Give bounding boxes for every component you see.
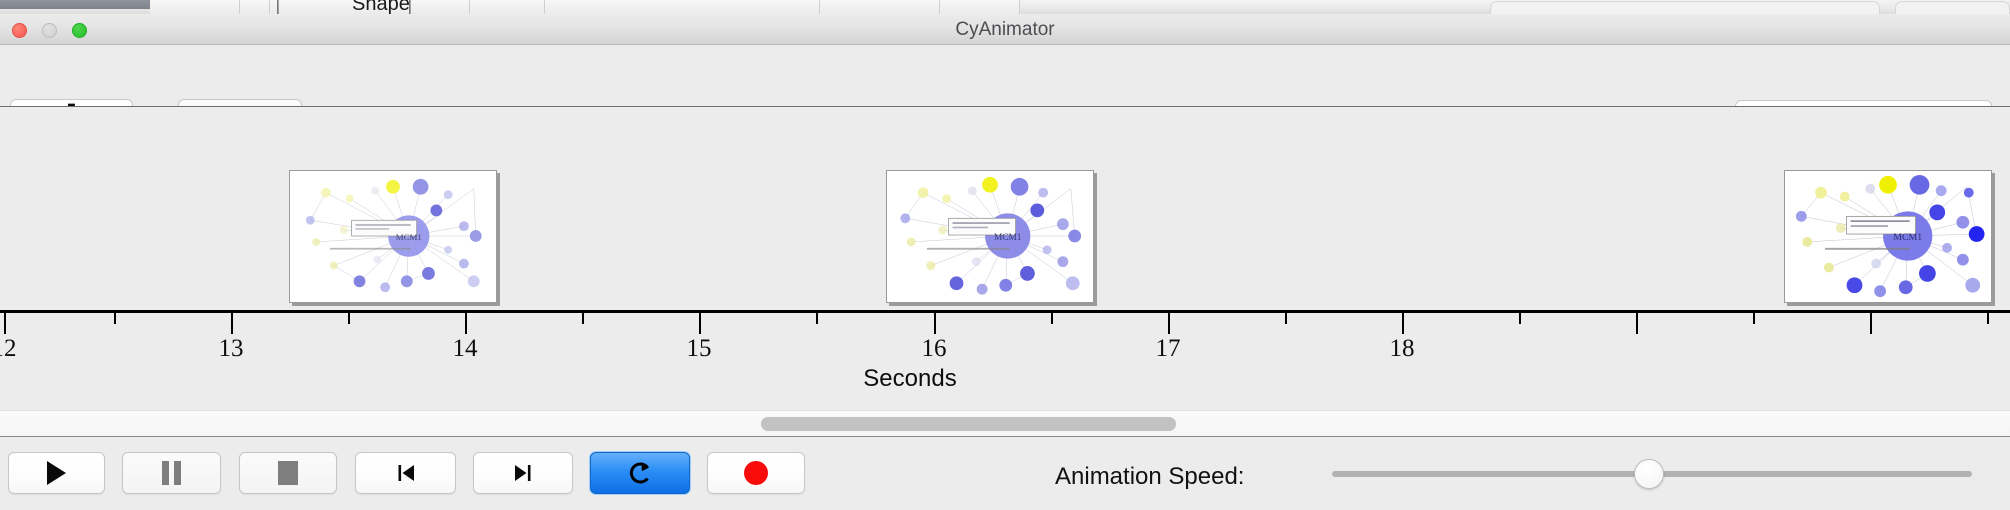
background-dark-tab [0,0,150,9]
loop-button[interactable] [590,452,690,494]
axis-tick-label: 15 [687,335,712,363]
scrollbar-thumb[interactable] [761,417,1176,431]
skip-to-start-icon [393,460,419,486]
background-window-corner [1895,1,2010,14]
network-graph-frame-3: MCM1 [1785,171,1991,302]
svg-text:MCM1: MCM1 [994,233,1022,243]
svg-text:MCM1: MCM1 [1893,232,1922,243]
animation-speed-slider[interactable] [1332,471,1972,477]
network-graph-frame-1: MCM1 [290,171,496,302]
skip-to-start-button[interactable] [355,452,456,494]
axis-tick-label: 18 [1390,335,1415,363]
axis-tick-major [4,313,6,334]
skip-to-end-button[interactable] [473,452,573,494]
axis-tick-minor [1285,313,1287,324]
pause-button[interactable] [122,452,221,494]
axis-tick-major [934,313,936,334]
record-button[interactable] [707,452,805,494]
svg-text:MCM1: MCM1 [396,232,422,242]
toolbar: ✚ Clear All Frames [0,45,2010,107]
slider-thumb[interactable] [1634,459,1664,489]
axis-tick-major [1402,313,1404,334]
titlebar: CyAnimator [0,14,2010,45]
record-icon [744,461,768,485]
background-window-corner [1490,1,1880,14]
play-icon [47,461,66,485]
background-segment [240,0,270,14]
pause-icon [162,461,181,485]
window-title: CyAnimator [0,14,2010,45]
background-segment [150,0,240,14]
axis-tick-minor [1987,313,1989,324]
background-window-strip: | | Shape [0,0,2010,14]
axis-tick-minor [582,313,584,324]
axis-tick-major [231,313,233,334]
frame-thumbnail[interactable]: MCM1 [1784,170,1992,303]
axis-tick-minor [1051,313,1053,324]
axis-tick-minor [1753,313,1755,324]
axis-tick-major [1870,313,1872,334]
horizontal-scrollbar[interactable] [0,410,2010,437]
axis-tick-minor [816,313,818,324]
axis-tick-major [1636,313,1638,334]
skip-to-end-icon [510,460,536,486]
axis-tick-minor [114,313,116,324]
axis-tick-minor [348,313,350,324]
cyanimator-window: | | Shape CyAnimator ✚ Clear All Frames [0,0,2010,510]
frame-thumbnail[interactable]: MCM1 [886,170,1094,303]
axis-tick-label: 16 [922,335,947,363]
animation-speed-label: Animation Speed: [1055,463,1244,491]
background-segment [940,0,1020,14]
background-segment [545,0,820,14]
background-shape-label: Shape [352,0,410,14]
axis-tick-major [699,313,701,334]
axis-tick-label: 12 [0,335,17,363]
axis-title: Seconds [863,365,956,393]
axis-tick-label: 17 [1156,335,1181,363]
background-segment [820,0,940,14]
background-glyph: | [276,0,280,14]
axis-tick-major [1168,313,1170,334]
axis-tick-minor [1519,313,1521,324]
stop-button[interactable] [239,452,337,494]
timeline-panel[interactable]: MCM1 [0,107,2010,410]
stop-icon [278,461,298,485]
frame-thumbnail[interactable]: MCM1 [289,170,497,303]
network-graph-frame-2: MCM1 [887,171,1093,302]
axis-tick-label: 14 [453,335,478,363]
loop-icon [625,458,655,488]
play-button[interactable] [8,452,105,494]
axis-tick-label: 13 [219,335,244,363]
playback-toolbar: Animation Speed: [0,438,2010,510]
axis-tick-major [465,313,467,334]
timeline-axis [0,310,2010,313]
background-segment [470,0,545,14]
